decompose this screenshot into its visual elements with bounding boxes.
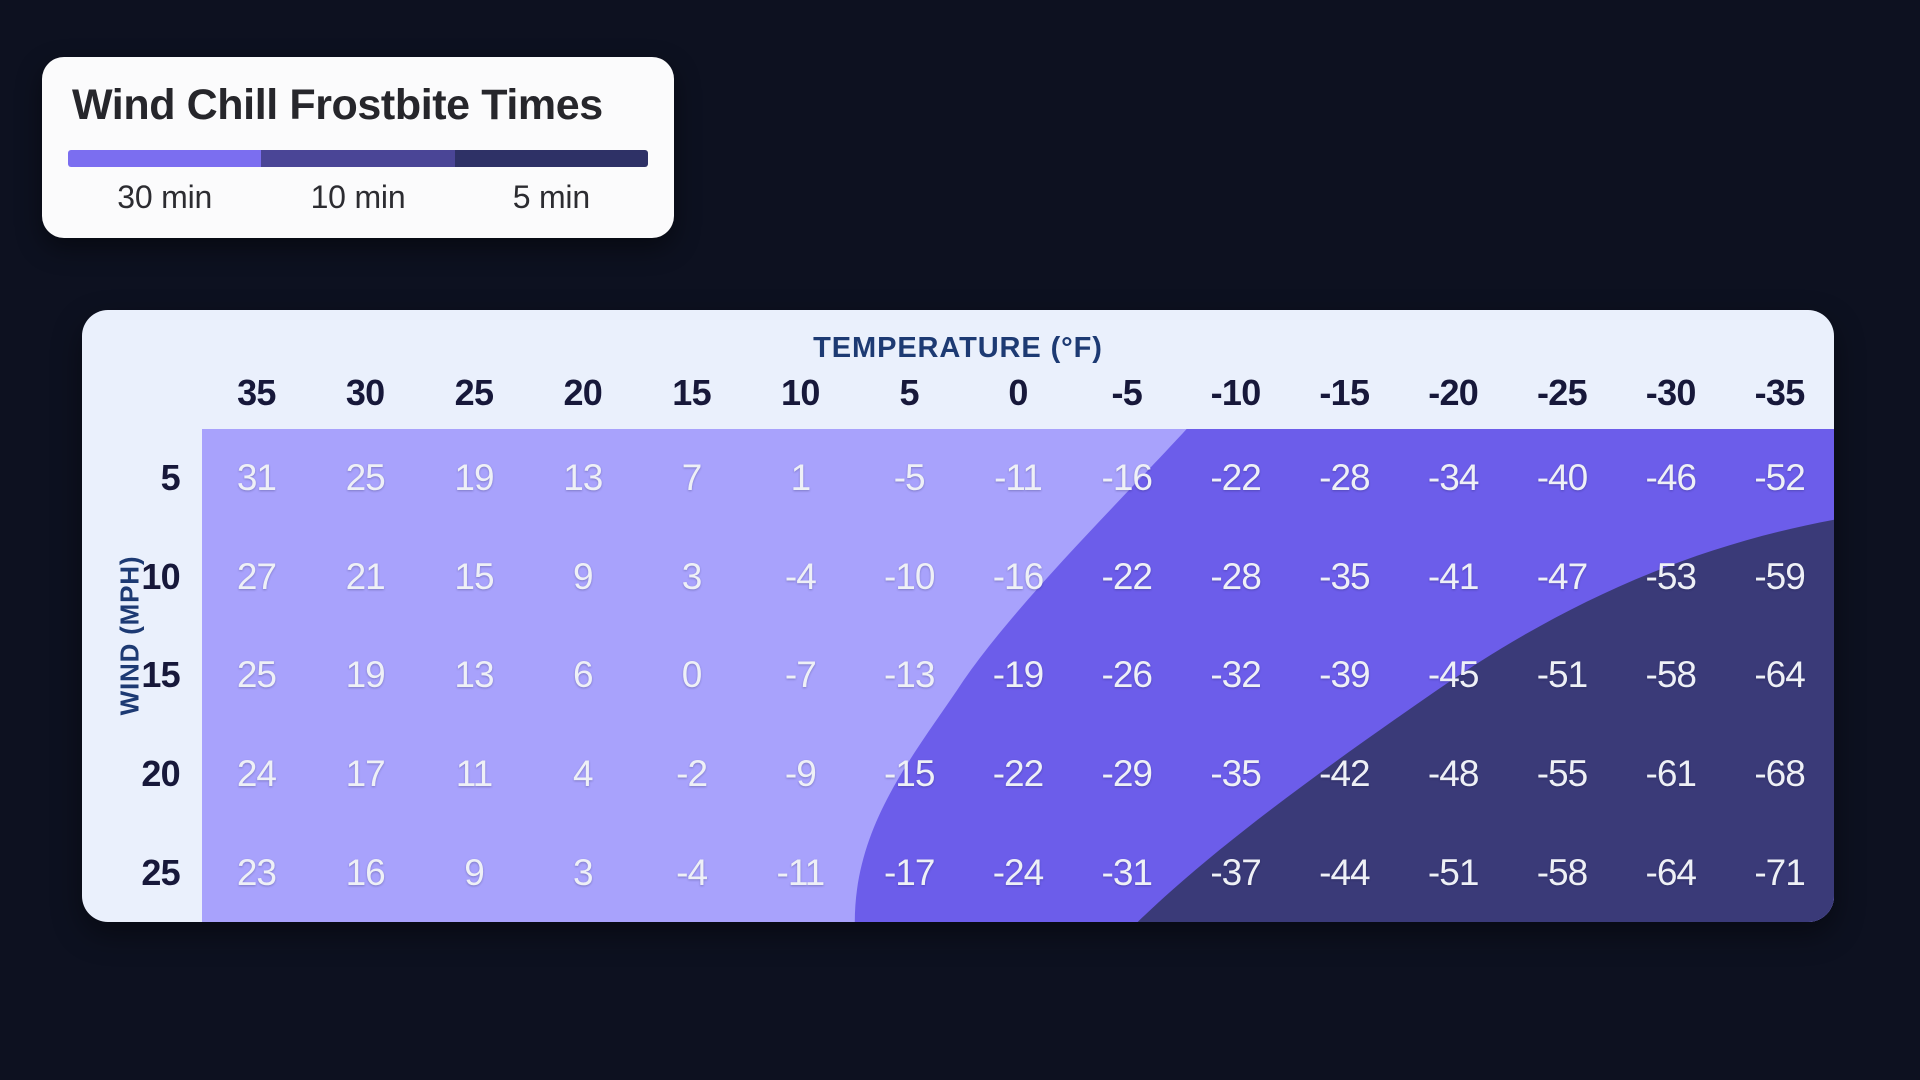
wind-chill-cell-25mph--30f: -64 [1616,823,1725,922]
table-row: 2417114-2-9-15-22-29-35-42-48-55-61-68 [202,725,1834,824]
wind-chill-cell-5mph--20f: -34 [1399,429,1508,528]
wind-chill-cell-10mph-25f: 15 [420,528,529,627]
frostbite-heatmap-grid: 3125191371-5-11-16-22-28-34-40-46-522721… [202,429,1834,922]
temperature-header--25: -25 [1508,372,1617,414]
wind-chill-cell-20mph--20f: -48 [1399,725,1508,824]
wind-chill-cell-10mph-15f: 3 [637,528,746,627]
wind-chill-cell-15mph-15f: 0 [637,626,746,725]
table-row: 231693-4-11-17-24-31-37-44-51-58-64-71 [202,823,1834,922]
temperature-header--30: -30 [1616,372,1725,414]
wind-chill-cell-20mph-35f: 24 [202,725,311,824]
wind-chill-cell-15mph--30f: -58 [1616,626,1725,725]
wind-chill-cell-10mph--15f: -35 [1290,528,1399,627]
legend-labels: 30 min 10 min 5 min [68,179,648,216]
wind-chill-table-card: TEMPERATURE (°F) 35302520151050-5-10-15-… [82,310,1834,922]
wind-chill-cell-25mph--35f: -71 [1725,823,1834,922]
temperature-header-10: 10 [746,372,855,414]
wind-chill-cell-5mph-0f: -11 [964,429,1073,528]
temperature-header--15: -15 [1290,372,1399,414]
wind-chill-cell-5mph--25f: -40 [1508,429,1617,528]
temperature-header-15: 15 [637,372,746,414]
wind-chill-cell-25mph--5f: -31 [1072,823,1181,922]
legend-label-10min: 10 min [261,179,454,216]
wind-chill-cell-15mph-5f: -13 [855,626,964,725]
wind-row-label-10: 10 [82,528,202,627]
wind-chill-cell-5mph-35f: 31 [202,429,311,528]
temperature-axis-title: TEMPERATURE (°F) [82,332,1834,365]
wind-chill-cell-25mph-35f: 23 [202,823,311,922]
wind-chill-cell-15mph--25f: -51 [1508,626,1617,725]
wind-chill-cell-15mph--35f: -64 [1725,626,1834,725]
wind-chill-cell-25mph-10f: -11 [746,823,855,922]
wind-chill-cell-5mph-30f: 25 [311,429,420,528]
wind-chill-cell-10mph-10f: -4 [746,528,855,627]
wind-chill-cell-10mph-0f: -16 [964,528,1073,627]
wind-chill-cell-5mph--30f: -46 [1616,429,1725,528]
wind-chill-cell-10mph--5f: -22 [1072,528,1181,627]
wind-chill-cell-10mph--20f: -41 [1399,528,1508,627]
table-row: 3125191371-5-11-16-22-28-34-40-46-52 [202,429,1834,528]
wind-chill-cell-5mph-5f: -5 [855,429,964,528]
temperature-column-headers: 35302520151050-5-10-15-20-25-30-35 [202,372,1834,414]
wind-chill-cell-5mph-20f: 13 [528,429,637,528]
wind-chill-cell-5mph--10f: -22 [1181,429,1290,528]
wind-chill-cell-5mph-10f: 1 [746,429,855,528]
temperature-header-20: 20 [528,372,637,414]
table-row: 25191360-7-13-19-26-32-39-45-51-58-64 [202,626,1834,725]
table-row: 27211593-4-10-16-22-28-35-41-47-53-59 [202,528,1834,627]
temperature-header-35: 35 [202,372,311,414]
wind-chill-cell-15mph--15f: -39 [1290,626,1399,725]
wind-chill-cell-20mph--5f: -29 [1072,725,1181,824]
temperature-header--10: -10 [1181,372,1290,414]
wind-chill-cell-5mph--5f: -16 [1072,429,1181,528]
wind-row-label-15: 15 [82,626,202,725]
legend-swatch-30min [68,150,261,167]
wind-chill-cell-5mph-15f: 7 [637,429,746,528]
wind-chill-cell-15mph--5f: -26 [1072,626,1181,725]
legend-label-5min: 5 min [455,179,648,216]
wind-chill-cell-20mph--15f: -42 [1290,725,1399,824]
wind-chill-cell-15mph--20f: -45 [1399,626,1508,725]
wind-chill-cell-15mph-25f: 13 [420,626,529,725]
wind-row-label-5: 5 [82,429,202,528]
wind-chill-cell-25mph-20f: 3 [528,823,637,922]
wind-chill-cell-10mph-35f: 27 [202,528,311,627]
wind-chill-cell-20mph--30f: -61 [1616,725,1725,824]
wind-chill-cell-15mph-35f: 25 [202,626,311,725]
wind-chill-cell-20mph-25f: 11 [420,725,529,824]
legend-swatch-10min [261,150,454,167]
wind-chill-cell-20mph-15f: -2 [637,725,746,824]
legend-swatch-5min [455,150,648,167]
wind-chill-cell-25mph-5f: -17 [855,823,964,922]
wind-chill-cell-20mph-30f: 17 [311,725,420,824]
wind-row-label-25: 25 [82,823,202,922]
wind-chill-value-grid: 3125191371-5-11-16-22-28-34-40-46-522721… [202,429,1834,922]
wind-chill-cell-15mph-20f: 6 [528,626,637,725]
wind-chill-cell-20mph-0f: -22 [964,725,1073,824]
temperature-header-25: 25 [420,372,529,414]
wind-chill-cell-25mph--15f: -44 [1290,823,1399,922]
wind-chill-cell-5mph-25f: 19 [420,429,529,528]
wind-chill-cell-20mph-5f: -15 [855,725,964,824]
wind-chill-cell-10mph--30f: -53 [1616,528,1725,627]
wind-chill-cell-10mph-5f: -10 [855,528,964,627]
wind-chill-cell-20mph-20f: 4 [528,725,637,824]
wind-chill-cell-15mph-0f: -19 [964,626,1073,725]
wind-chill-cell-15mph-30f: 19 [311,626,420,725]
wind-chill-cell-10mph--10f: -28 [1181,528,1290,627]
wind-chill-cell-25mph-15f: -4 [637,823,746,922]
temperature-header-5: 5 [855,372,964,414]
wind-chill-cell-10mph-20f: 9 [528,528,637,627]
temperature-header-30: 30 [311,372,420,414]
legend-title: Wind Chill Frostbite Times [68,83,648,128]
wind-chill-cell-20mph-10f: -9 [746,725,855,824]
legend-color-bar [68,150,648,167]
wind-chill-cell-25mph--10f: -37 [1181,823,1290,922]
temperature-header--20: -20 [1399,372,1508,414]
wind-chill-cell-10mph--35f: -59 [1725,528,1834,627]
wind-chill-cell-15mph-10f: -7 [746,626,855,725]
wind-chill-cell-20mph--10f: -35 [1181,725,1290,824]
wind-chill-cell-10mph--25f: -47 [1508,528,1617,627]
wind-chill-cell-25mph-25f: 9 [420,823,529,922]
wind-chill-cell-20mph--25f: -55 [1508,725,1617,824]
wind-chill-cell-25mph--20f: -51 [1399,823,1508,922]
temperature-header--35: -35 [1725,372,1834,414]
wind-row-labels: 510152025 [82,429,202,922]
wind-chill-cell-25mph--25f: -58 [1508,823,1617,922]
wind-chill-cell-20mph--35f: -68 [1725,725,1834,824]
wind-row-label-20: 20 [82,725,202,824]
legend-label-30min: 30 min [68,179,261,216]
wind-chill-cell-15mph--10f: -32 [1181,626,1290,725]
wind-chill-cell-25mph-0f: -24 [964,823,1073,922]
wind-chill-cell-25mph-30f: 16 [311,823,420,922]
temperature-header-0: 0 [964,372,1073,414]
legend-card: Wind Chill Frostbite Times 30 min 10 min… [42,57,674,238]
wind-chill-cell-10mph-30f: 21 [311,528,420,627]
wind-chill-cell-5mph--15f: -28 [1290,429,1399,528]
wind-chill-cell-5mph--35f: -52 [1725,429,1834,528]
temperature-header--5: -5 [1072,372,1181,414]
